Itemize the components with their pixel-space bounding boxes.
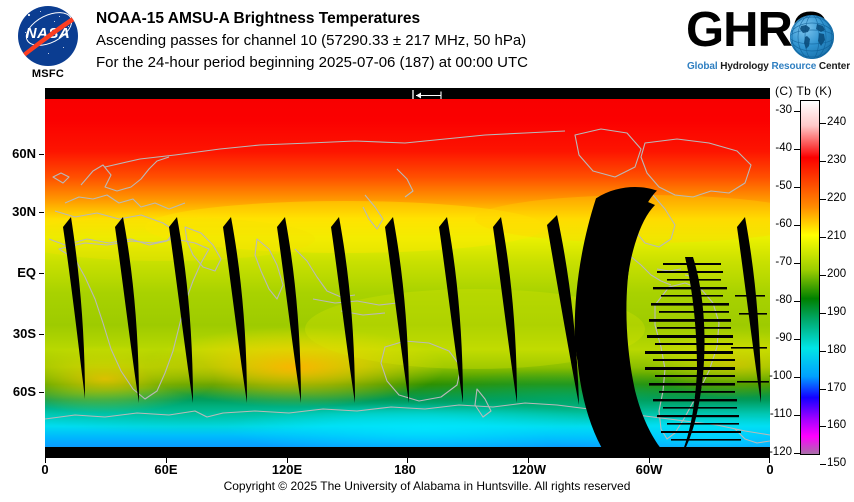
colorbar-tick: [794, 149, 800, 150]
colorbar-celsius-label: -50: [775, 180, 792, 192]
colorbar-celsius-label: -90: [775, 332, 792, 344]
colorbar-kelvin-label: 190: [827, 306, 846, 318]
colorbar-celsius-label: -70: [775, 256, 792, 268]
colorbar-tick: [820, 313, 826, 314]
nasa-meatball-icon: NASA: [18, 6, 78, 66]
y-tick-label: EQ: [17, 265, 36, 280]
ghrc-logo: GHRC Global Hydrology Reso: [686, 8, 848, 78]
x-tick-label: 0: [35, 462, 55, 477]
colorbar-celsius-ticks: [793, 100, 800, 455]
colorbar-tick: [794, 225, 800, 226]
colorbar-tick: [820, 275, 826, 276]
brightness-temperature-map: [45, 99, 770, 447]
colorbar-tick: [820, 426, 826, 427]
colorbar-tick: [794, 187, 800, 188]
colorbar-tick: [820, 161, 826, 162]
x-tick-label: 120W: [512, 462, 546, 477]
colorbar-kelvin-label: 170: [827, 382, 846, 394]
colorbar-kelvin-label: 180: [827, 344, 846, 356]
colorbar-kelvin-label: 230: [827, 154, 846, 166]
x-axis-labels: 0 60E 120E 180 120W 60W 0: [0, 462, 854, 480]
colorbar-kelvin-labels: 240230220210200190180170160150: [827, 100, 854, 455]
colorbar-kelvin-label: 160: [827, 419, 846, 431]
colorbar-tick: [820, 237, 826, 238]
colorbar-kelvin-ticks: [820, 100, 827, 455]
colorbar-header: (C) Tb (K): [775, 84, 832, 98]
x-tick-label: 0: [760, 462, 780, 477]
colorbar-kelvin-label: 210: [827, 230, 846, 242]
colorbar-tick: [820, 351, 826, 352]
colorbar-tick: [794, 339, 800, 340]
colorbar-tick: [820, 389, 826, 390]
y-axis-ticks: [39, 88, 45, 458]
subtitle-period: For the 24-hour period beginning 2025-07…: [96, 52, 696, 74]
north-pole-marker-icon: [45, 88, 770, 99]
nasa-swoosh-icon: [18, 10, 78, 62]
copyright-notice: Copyright © 2025 The University of Alaba…: [0, 479, 854, 493]
colorbar-kelvin-label: 240: [827, 116, 846, 128]
colorbar-celsius-label: -30: [775, 104, 792, 116]
x-tick-label: 60E: [150, 462, 182, 477]
colorbar-celsius-label: -120: [769, 446, 792, 458]
colorbar-celsius-label: -80: [775, 294, 792, 306]
y-tick-label: 30S: [13, 326, 36, 341]
colorbar-celsius-label: -110: [770, 408, 792, 420]
map-plot-area: [45, 88, 770, 458]
nasa-center-label: MSFC: [10, 68, 86, 80]
colorbar-celsius-labels: -30-40-50-60-70-80-90-100-110-120: [762, 100, 792, 455]
x-tick-label: 180: [393, 462, 417, 477]
colorbar-gradient: [801, 101, 819, 454]
subtitle-channel: Ascending passes for channel 10 (57290.3…: [96, 30, 696, 52]
y-axis-labels: 60N 30N EQ 30S 60S: [0, 88, 38, 458]
colorbar-tick: [794, 301, 800, 302]
title-block: NOAA-15 AMSU-A Brightness Temperatures A…: [96, 8, 696, 74]
x-tick-label: 60W: [633, 462, 665, 477]
globe-icon: [790, 15, 834, 59]
y-tick-label: 30N: [12, 204, 36, 219]
colorbar-celsius-label: -40: [775, 142, 792, 154]
colorbar-tick: [794, 111, 800, 112]
colorbar-tick: [820, 199, 826, 200]
colorbar-kelvin-label: 150: [827, 457, 846, 469]
colorbar-tick: [794, 453, 800, 454]
ghrc-subtitle: Global Hydrology Resource Center: [687, 61, 850, 72]
colorbar-tick: [794, 377, 800, 378]
colorbar-tick: [794, 263, 800, 264]
colorbar-kelvin-label: 220: [827, 192, 846, 204]
colorbar-celsius-label: -60: [775, 218, 792, 230]
y-tick-label: 60S: [13, 384, 36, 399]
colorbar-celsius-label: -100: [769, 370, 792, 382]
colorbar-tick: [820, 123, 826, 124]
colorbar-tick: [820, 464, 826, 465]
nasa-logo: NASA MSFC: [10, 6, 86, 82]
colorbar: [800, 100, 820, 455]
swath-gap-overlay: [45, 99, 770, 447]
colorbar-kelvin-label: 200: [827, 268, 846, 280]
page-title: NOAA-15 AMSU-A Brightness Temperatures: [96, 8, 696, 30]
y-tick-label: 60N: [12, 146, 36, 161]
x-tick-label: 120E: [271, 462, 303, 477]
colorbar-tick: [794, 415, 800, 416]
